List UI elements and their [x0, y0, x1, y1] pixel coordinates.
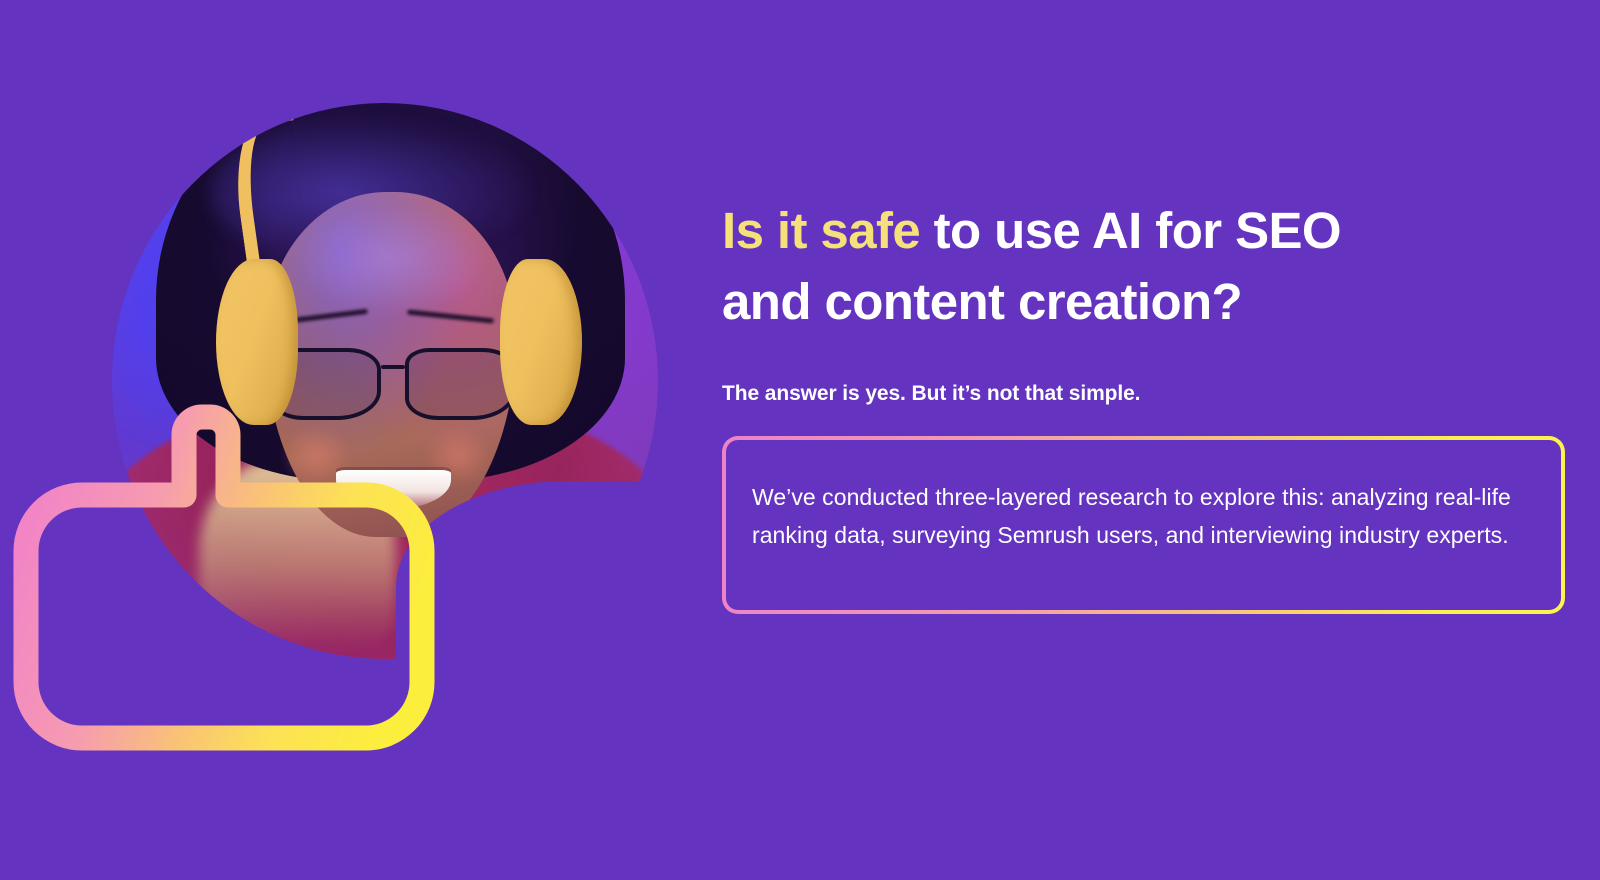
headline-rest-line1: to use AI for SEO — [920, 202, 1341, 259]
hero-content: Is it safe to use AI for SEO and content… — [722, 196, 1572, 614]
hero-visual — [0, 0, 700, 880]
headline-line2: and content creation? — [722, 273, 1242, 330]
research-callout-text: We’ve conducted three-layered research t… — [752, 478, 1521, 554]
subheadline: The answer is yes. But it’s not that sim… — [722, 382, 1572, 406]
photo-glasses-bridge — [381, 365, 406, 369]
headline-accent: Is it safe — [722, 202, 920, 259]
photo-headphone-cup-right — [500, 259, 582, 426]
photo-headphone-cup-left — [216, 259, 298, 426]
research-callout-box: We’ve conducted three-layered research t… — [722, 436, 1565, 614]
hero-banner: Is it safe to use AI for SEO and content… — [0, 0, 1600, 880]
research-callout-inner: We’ve conducted three-layered research t… — [726, 440, 1561, 610]
speech-bubble-icon — [18, 405, 438, 750]
photo-forehead-highlight — [292, 203, 489, 314]
page-title: Is it safe to use AI for SEO and content… — [722, 196, 1572, 338]
